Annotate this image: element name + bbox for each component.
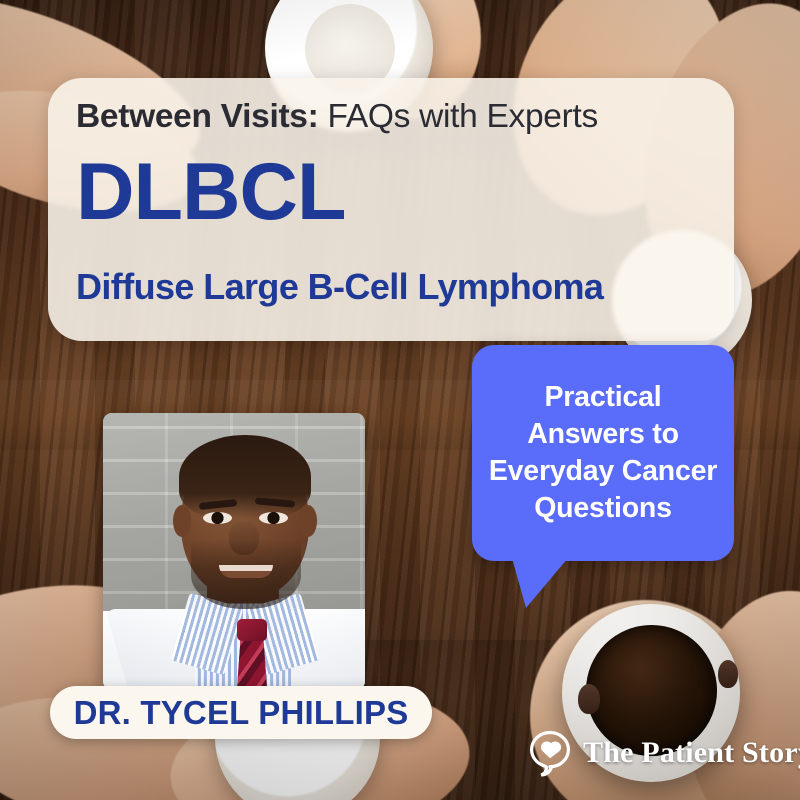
headline-card: Between Visits: FAQs with Experts DLBCL … (48, 78, 734, 341)
series-kicker-regular: FAQs with Experts (319, 98, 598, 135)
tagline-text: Practical Answers to Everyday Cancer Que… (472, 345, 734, 561)
series-kicker: Between Visits: FAQs with Experts (76, 98, 714, 136)
series-kicker-bold: Between Visits: (76, 98, 319, 135)
portrait-ear-left (173, 505, 191, 537)
brand-name-text: The Patient Story (583, 736, 800, 770)
doctor-name-badge: DR. TYCEL PHILLIPS (50, 686, 432, 739)
portrait-eye-left (203, 512, 232, 524)
doctor-name-text: DR. TYCEL PHILLIPS (74, 694, 409, 732)
disease-acronym: DLBCL (76, 152, 345, 233)
necktie-knot (237, 619, 267, 641)
poster-canvas: Between Visits: FAQs with Experts DLBCL … (0, 0, 800, 800)
doctor-portrait-photo (103, 413, 365, 690)
speech-bubble-tail-icon (512, 558, 568, 608)
portrait-eye-right (259, 512, 288, 524)
speech-bubble-heart-icon (528, 729, 572, 777)
brand-logo: The Patient Story (528, 729, 800, 777)
disease-full-name: Diffuse Large B-Cell Lymphoma (76, 266, 716, 308)
portrait-mouth (219, 565, 273, 578)
tagline-speech-bubble: Practical Answers to Everyday Cancer Que… (472, 345, 734, 561)
portrait-ear-right (299, 505, 317, 537)
